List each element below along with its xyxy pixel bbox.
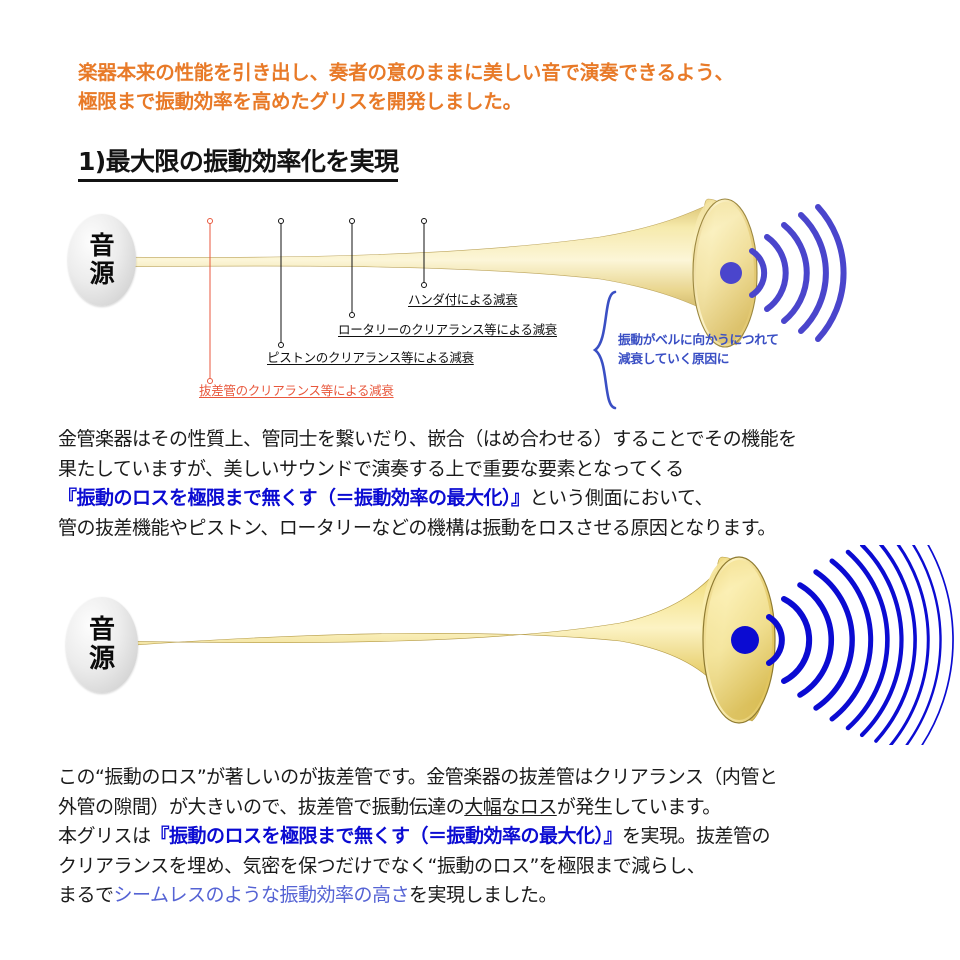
source-badge-bottom: 音 源	[66, 597, 138, 693]
source-badge-char-2: 源	[89, 645, 115, 674]
leader-dot-top	[349, 218, 355, 224]
para-bottom-run-2-3: が発生しています。	[557, 796, 721, 818]
leader-stem	[281, 221, 282, 345]
leader-label-solder: ハンダ付による減衰	[408, 292, 517, 308]
source-badge-top: 音 源	[68, 214, 136, 306]
para-middle-run-3-2: という側面において、	[530, 487, 713, 509]
figure-vibration-loss-after: 音 源	[0, 545, 960, 745]
headline: 楽器本来の性能を引き出し、奏者の意のままに美しい音で演奏できるよう、 極限まで振…	[78, 58, 878, 116]
leader-line-solder	[420, 221, 428, 285]
leader-dot-top	[207, 218, 213, 224]
leader-line-rotary	[348, 221, 356, 315]
brace-note-line-1: 振動がベルに向かうにつれて	[618, 330, 779, 349]
para-middle-line-1: 金管楽器はその性質上、管同士を繋いだり、嵌合（はめ合わせる）することでその機能を	[58, 425, 938, 455]
brace-note-top: 振動がベルに向かうにつれて 減衰していく原因に	[618, 330, 779, 368]
leader-dot-top	[421, 218, 427, 224]
headline-line-2: 極限まで振動効率を高めたグリスを開発しました。	[78, 87, 878, 116]
section-heading: 1)最大限の振動効率化を実現	[78, 146, 398, 182]
para-bottom-run-1-1: この“振動のロス”が著しいのが抜差管です。金管楽器の抜差管はクリアランス（内管と	[58, 766, 777, 788]
leader-dot-bottom	[278, 342, 284, 348]
leader-label-piston: ピストンのクリアランス等による減衰	[267, 350, 474, 366]
leader-line-slide-tube	[206, 221, 214, 381]
figure-vibration-loss-before: 音 源 抜差管のクリアランス等による減衰 ピストンのクリアランス等による減衰 ロ…	[0, 185, 960, 415]
leader-dot-top	[278, 218, 284, 224]
leader-line-piston	[277, 221, 285, 345]
horn-illustration-bottom	[0, 545, 960, 745]
source-badge-char-1: 音	[89, 616, 115, 645]
para-middle-line-3: 『振動のロスを極限まで無くす（＝振動効率の最大化）』という側面において、	[58, 484, 938, 514]
leader-label-rotary: ロータリーのクリアランス等による減衰	[338, 322, 557, 338]
para-bottom-line-3: 本グリスは『振動のロスを極限まで無くす（＝振動効率の最大化）』を実現。抜差管の	[58, 822, 938, 852]
leader-dot-bottom	[421, 282, 427, 288]
para-bottom-run-3-3: を実現。抜差管の	[622, 825, 770, 847]
paragraph-vibration-loss-explanation: 金管楽器はその性質上、管同士を繋いだり、嵌合（はめ合わせる）することでその機能を…	[58, 425, 938, 543]
para-bottom-run-2-1: 外管の隙間）が大きいので、抜差管で振動伝達の	[58, 796, 464, 818]
para-bottom-run-5-3: を実現しました。	[409, 884, 557, 906]
leader-stem	[424, 221, 425, 285]
para-bottom-line-4: クリアランスを埋め、気密を保つだけでなく“振動のロス”を極限まで減らし、	[58, 852, 938, 882]
para-middle-run-1-1: 金管楽器はその性質上、管同士を繋いだり、嵌合（はめ合わせる）することでその機能を	[58, 428, 797, 450]
para-bottom-run-3-2: 『振動のロスを極限まで無くす（＝振動効率の最大化）』	[151, 825, 623, 847]
brace-note-line-2: 減衰していく原因に	[618, 349, 779, 368]
leader-stem	[210, 221, 211, 381]
para-middle-run-2-1: 果たしていますが、美しいサウンドで演奏する上で重要な要素となってくる	[58, 458, 684, 480]
leader-label-slide-tube: 抜差管のクリアランス等による減衰	[199, 383, 394, 399]
para-middle-run-4-1: 管の抜差機能やピストン、ロータリーなどの機構は振動をロスさせる原因となります。	[58, 517, 776, 539]
sound-emitter-dot-top	[720, 262, 742, 284]
sound-emitter-dot-bottom	[731, 626, 759, 654]
para-bottom-run-2-2: 大幅なロス	[464, 796, 557, 818]
para-middle-line-2: 果たしていますが、美しいサウンドで演奏する上で重要な要素となってくる	[58, 455, 938, 485]
para-bottom-run-4-1: クリアランスを埋め、気密を保つだけでなく“振動のロス”を極限まで減らし、	[58, 855, 705, 877]
para-middle-line-4: 管の抜差機能やピストン、ロータリーなどの機構は振動をロスさせる原因となります。	[58, 514, 938, 544]
para-bottom-line-1: この“振動のロス”が著しいのが抜差管です。金管楽器の抜差管はクリアランス（内管と	[58, 763, 938, 793]
leader-dot-bottom	[349, 312, 355, 318]
para-bottom-run-5-1: まるで	[58, 884, 114, 906]
para-bottom-line-5: まるでシームレスのような振動効率の高さを実現しました。	[58, 881, 938, 911]
paragraph-grease-benefit: この“振動のロス”が著しいのが抜差管です。金管楽器の抜差管はクリアランス（内管と…	[58, 763, 938, 911]
source-badge-char-1: 音	[89, 232, 114, 260]
para-bottom-line-2: 外管の隙間）が大きいので、抜差管で振動伝達の大幅なロスが発生しています。	[58, 793, 938, 823]
para-bottom-run-5-2: シームレスのような振動効率の高さ	[114, 884, 409, 906]
leader-stem	[352, 221, 353, 315]
headline-line-1: 楽器本来の性能を引き出し、奏者の意のままに美しい音で演奏できるよう、	[78, 58, 878, 87]
para-middle-run-3-1: 『振動のロスを極限まで無くす（＝振動効率の最大化）』	[58, 487, 530, 509]
source-badge-char-2: 源	[89, 260, 114, 288]
para-bottom-run-3-1: 本グリスは	[58, 825, 151, 847]
